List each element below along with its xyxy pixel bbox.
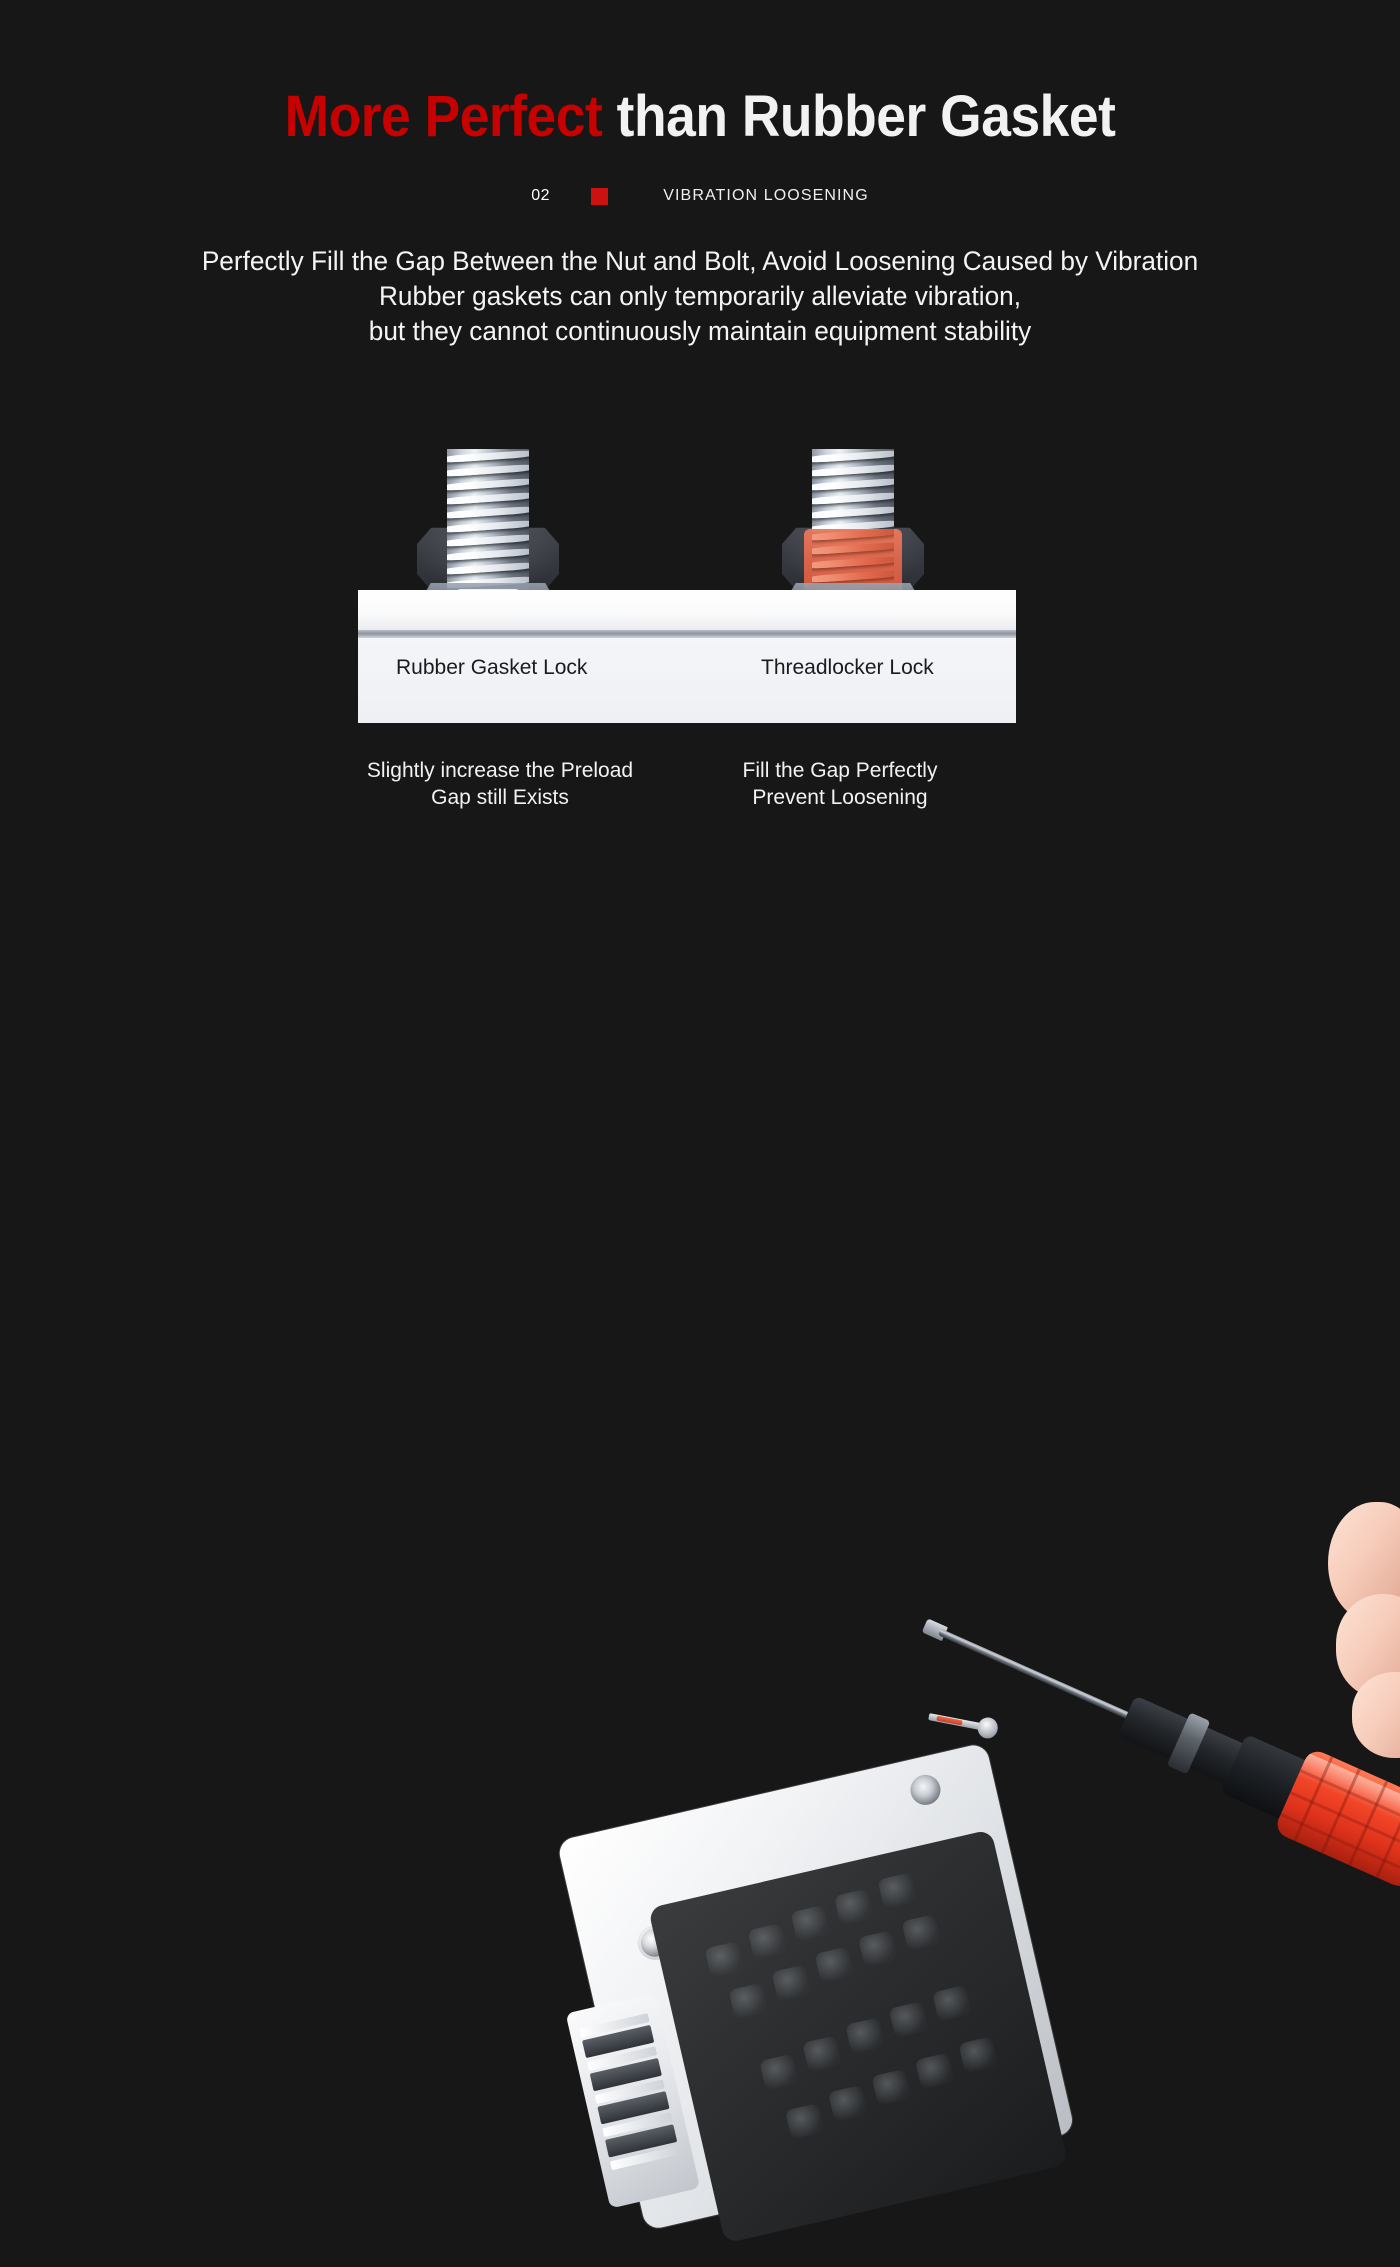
lead-line-2: Rubber gaskets can only temporarily alle…: [21, 279, 1379, 314]
metal-plate-top: [358, 590, 1016, 632]
hand: [1318, 1502, 1400, 1770]
lead-line-1: Perfectly Fill the Gap Between the Nut a…: [21, 244, 1379, 279]
red-square-marker-icon: [591, 188, 608, 205]
lead-line-3: but they cannot continuously maintain eq…: [21, 314, 1379, 349]
lead-paragraph: Perfectly Fill the Gap Between the Nut a…: [21, 244, 1379, 349]
panel-caption-right: Threadlocker Lock: [761, 656, 934, 680]
page-title-highlight: More Perfect: [285, 84, 603, 149]
floodlight-lens: [648, 1829, 1068, 2243]
page-root: More Perfect than Rubber Gasket 02 VIBRA…: [0, 0, 1400, 1398]
section-label: VIBRATION LOOSENING: [663, 187, 869, 205]
section-number: 02: [531, 187, 591, 205]
product-photo: [0, 740, 1400, 1398]
page-title-rest: than Rubber Gasket: [602, 84, 1115, 149]
panel-caption-strip: [358, 638, 1016, 723]
metal-plate-edge: [358, 630, 1016, 638]
panel-caption-left: Rubber Gasket Lock: [396, 656, 587, 680]
section-eyebrow: 02 VIBRATION LOOSENING: [0, 187, 1400, 205]
screwdriver-shaft: [938, 1629, 1140, 1724]
page-title: More Perfect than Rubber Gasket: [56, 86, 1344, 148]
comparison-panel: Rubber Gasket Lock Threadlocker Lock: [358, 590, 1016, 723]
housing-mount-point: [907, 1772, 943, 1808]
